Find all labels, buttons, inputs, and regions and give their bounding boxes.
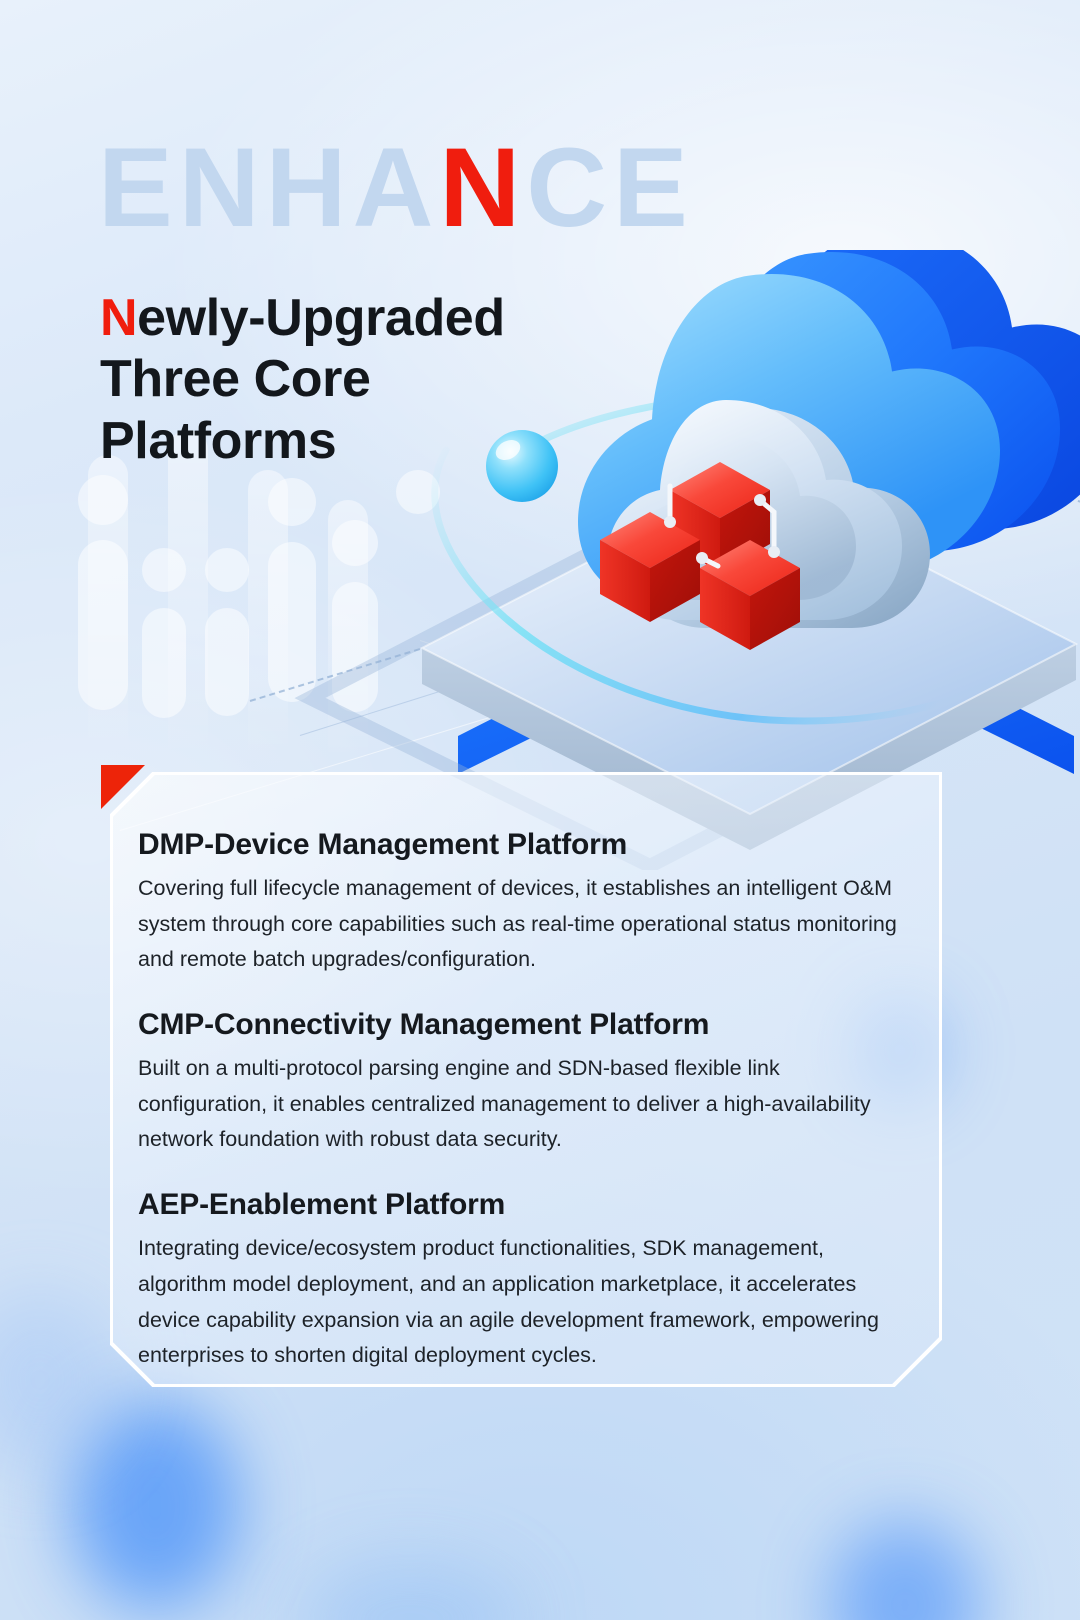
section-body: Covering full lifecycle management of de… <box>138 871 902 978</box>
section-title: AEP-Enablement Platform <box>138 1188 902 1222</box>
card-content: DMP-Device Management Platform Covering … <box>110 772 942 1387</box>
section-body: Built on a multi-protocol parsing engine… <box>138 1051 902 1158</box>
accent-sphere <box>486 430 558 502</box>
section-title: DMP-Device Management Platform <box>138 828 902 862</box>
poster-canvas: ENHANCE Newly-UpgradedThree CorePlatform… <box>0 0 1080 1620</box>
platform-section-cmp: CMP-Connectivity Management Platform Bui… <box>138 1008 902 1158</box>
watermark-suffix: CE <box>526 125 694 250</box>
platforms-card: DMP-Device Management Platform Covering … <box>110 772 942 1387</box>
section-body: Integrating device/ecosystem product fun… <box>138 1231 902 1374</box>
section-title: CMP-Connectivity Management Platform <box>138 1008 902 1042</box>
watermark-highlight-letter: N <box>439 125 526 250</box>
platform-section-aep: AEP-Enablement Platform Integrating devi… <box>138 1188 902 1374</box>
platform-section-dmp: DMP-Device Management Platform Covering … <box>138 828 902 978</box>
watermark-prefix: ENHA <box>98 125 439 250</box>
watermark-enhance: ENHANCE <box>98 132 694 244</box>
headline-highlight-letter: N <box>100 289 137 347</box>
